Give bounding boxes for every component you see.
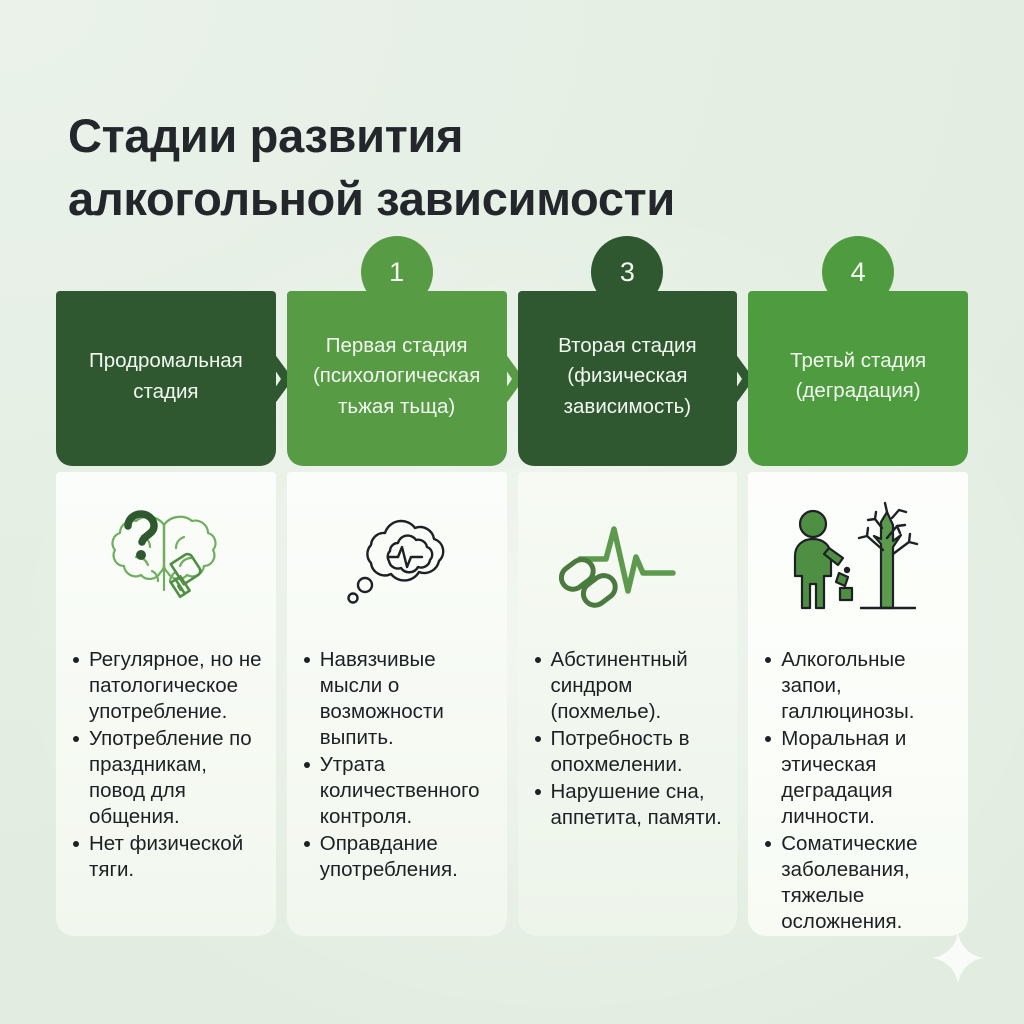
page-title: Стадии развития алкогольной зависимости xyxy=(68,105,928,229)
list-item: Моральная и этическая деградация личност… xyxy=(764,726,960,830)
stage-body-2: Навязчивые мысли о возможности выпить. У… xyxy=(287,472,507,936)
page-title-line-1: Стадии развития xyxy=(68,105,928,167)
stage-bullets-2: Навязчивые мысли о возможности выпить. У… xyxy=(287,647,507,883)
stage-card-3: 3 Вторая стадия (физическая зависимость) xyxy=(518,236,738,936)
list-item: Нет физической тяги. xyxy=(72,831,268,883)
stage-bullets-3: Абстинентный синдром (похмелье). Потребн… xyxy=(518,647,738,831)
stage-bullets-4: Алкогольные запои, галлюцинозы. Моральна… xyxy=(748,647,968,935)
stage-header-label-2: Первая стадия (психологическая тьжая тьщ… xyxy=(303,331,491,421)
stage-header-4: Третьй стадия (деградация) xyxy=(748,291,968,466)
list-item: Навязчивые мысли о возможности выпить. xyxy=(303,647,499,751)
stage-body-1: Регулярное, но не патологическое употреб… xyxy=(56,472,276,936)
list-item: Употребление по праздникам, повод для об… xyxy=(72,726,268,830)
list-item: Регулярное, но не патологическое употреб… xyxy=(72,647,268,725)
stage-header-label-4: Третьй стадия (деградация) xyxy=(764,346,952,406)
stages-row: Продромальная стадия xyxy=(56,236,968,936)
list-item: Оправдание употребления. xyxy=(303,831,499,883)
stage-card-4: 4 Третьй стадия (деградация) xyxy=(748,236,968,936)
person-bottle-dead-tree-icon xyxy=(748,472,968,647)
stage-header-label-3: Вторая стадия (физическая зависимость) xyxy=(534,331,722,421)
list-item: Утрата количественного контроля. xyxy=(303,752,499,830)
list-item: Абстинентный синдром (похмелье). xyxy=(534,647,730,725)
page-title-line-2: алкогольной зависимости xyxy=(68,168,928,230)
list-item: Нарушение сна, аппетита, памяти. xyxy=(534,779,730,831)
chain-pulse-icon xyxy=(518,472,738,647)
stage-body-3: Абстинентный синдром (похмелье). Потребн… xyxy=(518,472,738,936)
stage-header-1: Продромальная стадия xyxy=(56,291,276,466)
list-item: Соматические заболевания, тяжелые осложн… xyxy=(764,831,960,935)
list-item: Алкогольные запои, галлюцинозы. xyxy=(764,647,960,725)
stage-header-2: Первая стадия (психологическая тьжая тьщ… xyxy=(287,291,507,466)
stage-card-1: Продромальная стадия xyxy=(56,236,276,936)
stage-header-label-1: Продромальная стадия xyxy=(72,346,260,406)
stage-body-4: Алкогольные запои, галлюцинозы. Моральна… xyxy=(748,472,968,936)
brain-question-bottle-icon xyxy=(56,472,276,647)
sparkle-icon xyxy=(930,930,986,986)
infographic-canvas: Стадии развития алкогольной зависимости … xyxy=(0,0,1024,1024)
stage-bullets-1: Регулярное, но не патологическое употреб… xyxy=(56,647,276,883)
list-item: Потребность в опохмелении. xyxy=(534,726,730,778)
thought-bubble-pulse-icon xyxy=(287,472,507,647)
stage-header-3: Вторая стадия (физическая зависимость) xyxy=(518,291,738,466)
stage-card-2: 1 Первая стадия (психологическая тьжая т… xyxy=(287,236,507,936)
